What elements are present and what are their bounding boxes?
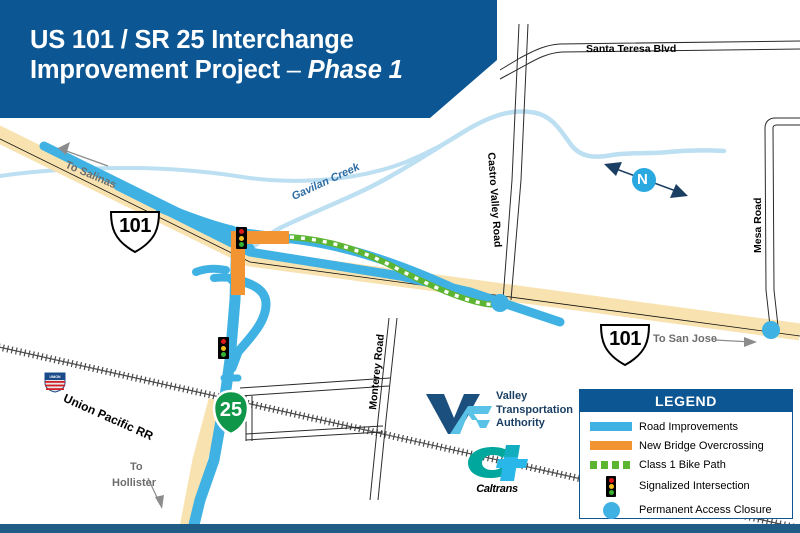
title-dash: – — [287, 56, 301, 84]
title-line-2: Improvement Project – Phase 1 — [30, 55, 480, 85]
vta-line-1: Valley — [496, 390, 573, 404]
header-banner: US 101 / SR 25 Interchange Improvement P… — [0, 0, 497, 118]
us101-shield-east: 101 — [599, 318, 651, 358]
legend-item-bike-path: Class 1 Bike Path — [580, 455, 792, 474]
permanent-access-closure-mesa — [762, 321, 780, 339]
permanent-access-closure-castro — [491, 294, 509, 312]
svg-text:UNION: UNION — [50, 375, 61, 379]
legend-label-closure: Permanent Access Closure — [634, 504, 772, 516]
title-interchange: Interchange — [211, 26, 353, 54]
vta-logo: Valley Transportation Authority — [424, 390, 574, 436]
vta-mark-icon — [424, 390, 494, 436]
sr25-shield: 25 — [209, 392, 253, 430]
label-to-hollister-line1: To — [130, 461, 143, 473]
north-arrow-label: N — [637, 171, 648, 188]
label-santa-teresa-blvd: Santa Teresa Blvd — [586, 43, 676, 55]
signalized-intersection-sr25 — [218, 337, 229, 359]
vta-wordmark: Valley Transportation Authority — [496, 390, 573, 431]
legend-label-bike-path: Class 1 Bike Path — [634, 459, 726, 471]
legend-box: LEGEND Road Improvements New Bridge Over… — [579, 389, 793, 519]
new-bridge-horizontal — [245, 231, 289, 244]
legend-label-signal: Signalized Intersection — [634, 480, 750, 492]
sr25-shield-label: 25 — [209, 399, 253, 422]
us101-shield-west: 101 — [109, 205, 161, 245]
map-poster: US 101 / SR 25 Interchange Improvement P… — [0, 0, 800, 533]
legend-label-road-improvements: Road Improvements — [634, 421, 738, 433]
caltrans-mark-icon — [462, 445, 532, 483]
caltrans-wordmark: Caltrans — [462, 483, 532, 495]
vta-line-3: Authority — [496, 417, 573, 431]
us101-shield-west-label: 101 — [109, 215, 161, 238]
label-to-hollister-line2: Hollister — [112, 477, 156, 489]
signalized-intersection-bridge — [236, 227, 247, 249]
caltrans-logo: Caltrans — [462, 445, 532, 497]
vta-line-2: Transportation — [496, 404, 573, 418]
road-improvement-connector-arc2 — [196, 269, 226, 272]
legend-title: LEGEND — [580, 390, 792, 412]
us101-shield-east-label: 101 — [599, 328, 651, 351]
title-phase: Phase 1 — [308, 56, 403, 84]
label-mesa-road: Mesa Road — [752, 198, 764, 253]
legend-item-signal: Signalized Intersection — [580, 474, 792, 498]
blue-dot-icon — [588, 502, 634, 519]
legend-item-road-improvements: Road Improvements — [580, 417, 792, 436]
footer-strip — [0, 524, 800, 533]
traffic-signal-icon — [588, 476, 634, 497]
legend-item-closure: Permanent Access Closure — [580, 498, 792, 522]
legend-label-new-bridge: New Bridge Overcrossing — [634, 440, 764, 452]
blue-bar-icon — [588, 422, 634, 431]
green-dashed-bar-icon — [588, 461, 634, 469]
union-pacific-shield-icon: UNION — [44, 371, 66, 393]
title-route: US 101 / SR 25 — [30, 26, 204, 54]
title-line-1: US 101 / SR 25 Interchange — [30, 25, 480, 55]
label-to-san-jose: To San Jose — [653, 333, 717, 345]
header-text-block: US 101 / SR 25 Interchange Improvement P… — [30, 25, 480, 85]
orange-bar-icon — [588, 441, 634, 450]
title-improvement: Improvement Project — [30, 56, 280, 84]
legend-item-new-bridge: New Bridge Overcrossing — [580, 436, 792, 455]
